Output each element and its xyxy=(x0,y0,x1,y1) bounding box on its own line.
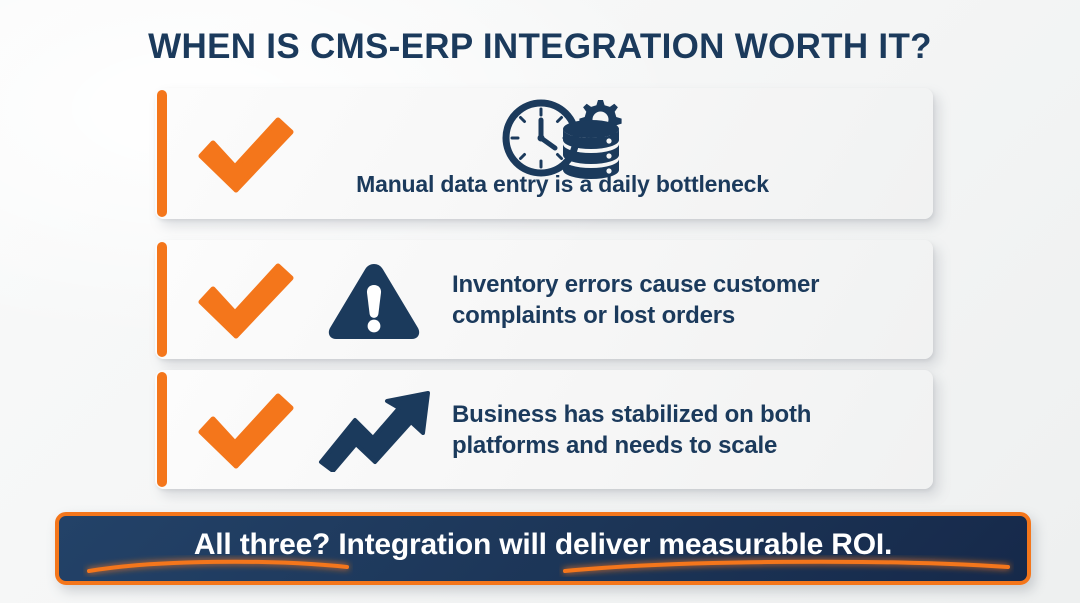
conclusion-banner: All three? Integration will deliver meas… xyxy=(55,512,1031,585)
page-title: WHEN IS CMS-ERP INTEGRATION WORTH IT? xyxy=(0,26,1080,68)
card-accent-bar xyxy=(157,90,167,217)
conclusion-banner-text: All three? Integration will deliver meas… xyxy=(59,516,1027,581)
warning-triangle-icon xyxy=(322,258,426,342)
trending-up-arrow-icon xyxy=(315,388,435,472)
card-3-text-line-2: platforms and needs to scale xyxy=(452,430,922,461)
card-body: Inventory errors cause customer complain… xyxy=(167,240,933,359)
card-2-text: Inventory errors cause customer complain… xyxy=(452,269,922,331)
criteria-card-2: Inventory errors cause customer complain… xyxy=(155,240,933,359)
card-3-text-line-1: Business has stabilized on both xyxy=(452,399,922,430)
clock-database-gear-icon xyxy=(497,96,625,180)
card-body: Manual data entry is a daily bottleneck xyxy=(167,88,933,219)
card-accent-bar xyxy=(157,242,167,357)
card-3-text: Business has stabilized on both platform… xyxy=(452,399,922,461)
criteria-card-1: Manual data entry is a daily bottleneck xyxy=(155,88,933,219)
infographic-canvas: WHEN IS CMS-ERP INTEGRATION WORTH IT? xyxy=(0,0,1080,603)
card-accent-bar xyxy=(157,372,167,487)
card-1-text: Manual data entry is a daily bottleneck xyxy=(167,169,933,199)
card-body: Business has stabilized on both platform… xyxy=(167,370,933,489)
card-2-text-line-2: complaints or lost orders xyxy=(452,300,922,331)
orange-checkmark-icon xyxy=(193,388,297,472)
card-2-text-line-1: Inventory errors cause customer xyxy=(452,269,922,300)
criteria-card-3: Business has stabilized on both platform… xyxy=(155,370,933,489)
orange-checkmark-icon xyxy=(193,258,297,342)
